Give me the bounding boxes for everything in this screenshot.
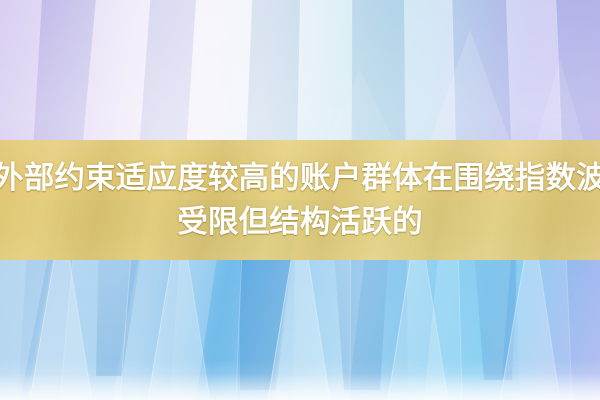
bottom-haze bbox=[0, 374, 600, 400]
headline-line-2: 受限但结构活跃的 bbox=[177, 200, 423, 244]
headline-block: 对外部约束适应度较高的账户群体在围绕指数波动 受限但结构活跃的 bbox=[0, 140, 600, 260]
decorative-banner: 对外部约束适应度较高的账户群体在围绕指数波动 受限但结构活跃的 bbox=[0, 0, 600, 400]
headline-line-1: 对外部约束适应度较高的账户群体在围绕指数波动 bbox=[0, 156, 600, 200]
